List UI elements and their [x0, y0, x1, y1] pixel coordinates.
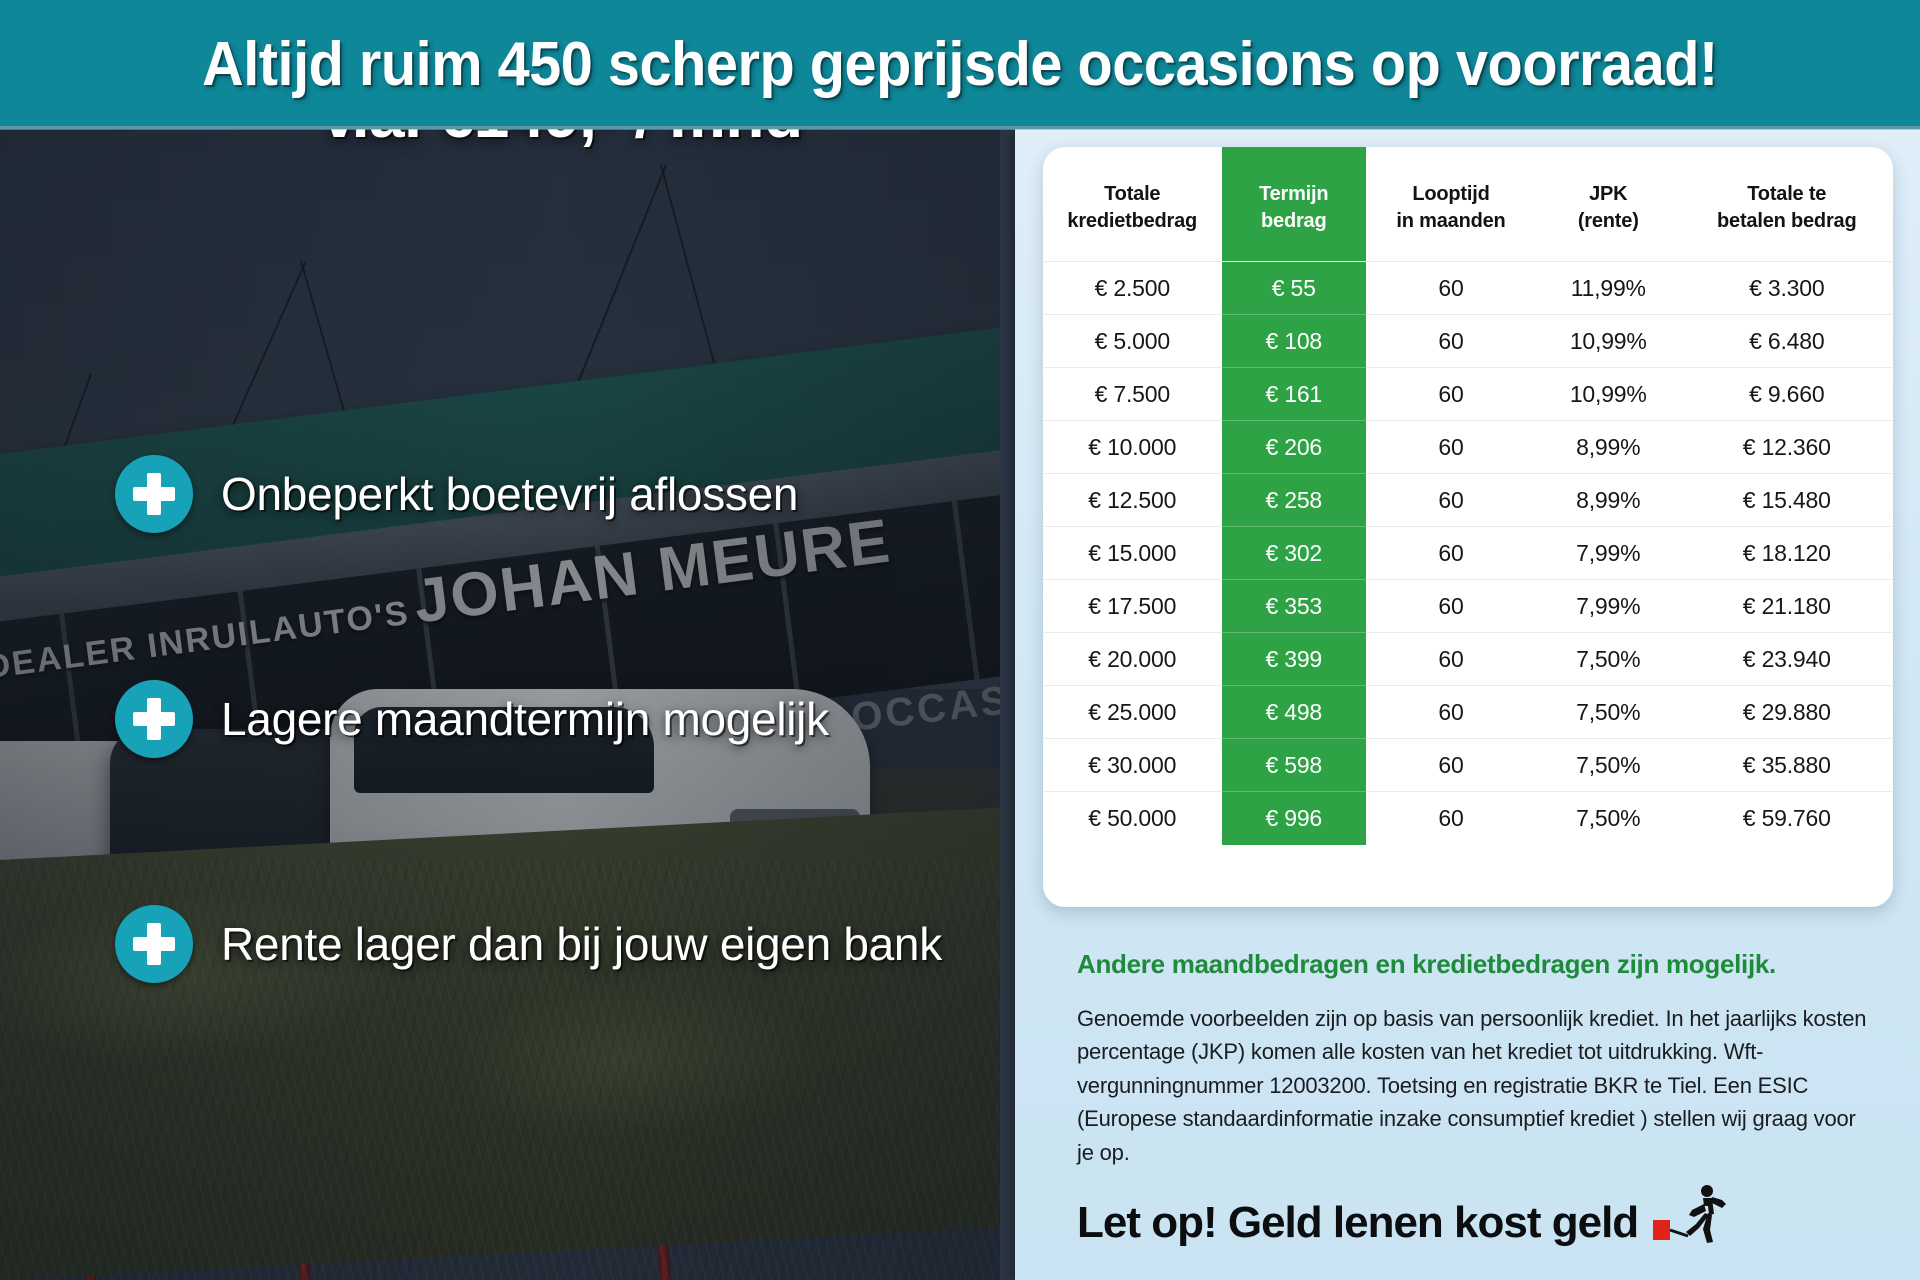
- credit-warning-row: Let op! Geld lenen kost geld: [1077, 1184, 1897, 1248]
- cell-krediet: € 20.000: [1043, 633, 1222, 686]
- cell-jpk: 10,99%: [1536, 315, 1681, 368]
- cell-krediet: € 30.000: [1043, 739, 1222, 792]
- cell-jpk: 8,99%: [1536, 474, 1681, 527]
- column-header-jpk: JPK (rente): [1536, 147, 1681, 262]
- disclaimer-block: Andere maandbedragen en kredietbedragen …: [1077, 949, 1867, 1169]
- benefit-item: Lagere maandtermijn mogelijk: [115, 680, 1015, 758]
- cell-totaal: € 35.880: [1681, 739, 1894, 792]
- finance-table: Totale kredietbedrag Termijn bedrag Loop…: [1043, 147, 1893, 845]
- cell-totaal: € 6.480: [1681, 315, 1894, 368]
- cell-termijn: € 161: [1222, 368, 1367, 421]
- cell-totaal: € 15.480: [1681, 474, 1894, 527]
- cell-termijn: € 996: [1222, 792, 1367, 845]
- cell-krediet: € 7.500: [1043, 368, 1222, 421]
- cell-termijn: € 498: [1222, 686, 1367, 739]
- column-header-termijn: Termijn bedrag: [1222, 147, 1367, 262]
- cell-totaal: € 12.360: [1681, 421, 1894, 474]
- benefit-label: Lagere maandtermijn mogelijk: [221, 692, 829, 746]
- cell-looptijd: 60: [1366, 686, 1536, 739]
- cell-krediet: € 5.000: [1043, 315, 1222, 368]
- cell-looptijd: 60: [1366, 739, 1536, 792]
- topbar-divider: [0, 126, 1920, 130]
- benefit-label: Onbeperkt boetevrij aflossen: [221, 467, 798, 521]
- cell-totaal: € 18.120: [1681, 527, 1894, 580]
- benefit-item: Rente lager dan bij jouw eigen bank: [115, 905, 1015, 983]
- cell-krediet: € 25.000: [1043, 686, 1222, 739]
- cell-termijn: € 206: [1222, 421, 1367, 474]
- cell-looptijd: 60: [1366, 421, 1536, 474]
- cell-krediet: € 15.000: [1043, 527, 1222, 580]
- cell-jpk: 11,99%: [1536, 262, 1681, 315]
- top-headline-bar: Altijd ruim 450 scherp geprijsde occasio…: [0, 0, 1920, 129]
- cell-looptijd: 60: [1366, 315, 1536, 368]
- afm-walking-man-icon: [1652, 1184, 1730, 1248]
- table-row: € 7.500€ 1616010,99%€ 9.660: [1043, 368, 1893, 421]
- cell-totaal: € 23.940: [1681, 633, 1894, 686]
- table-row: € 17.500€ 353607,99%€ 21.180: [1043, 580, 1893, 633]
- plus-icon: [115, 680, 193, 758]
- cell-jpk: 10,99%: [1536, 368, 1681, 421]
- table-row: € 15.000€ 302607,99%€ 18.120: [1043, 527, 1893, 580]
- cell-termijn: € 353: [1222, 580, 1367, 633]
- table-row: € 10.000€ 206608,99%€ 12.360: [1043, 421, 1893, 474]
- finance-table-head: Totale kredietbedrag Termijn bedrag Loop…: [1043, 147, 1893, 262]
- cell-looptijd: 60: [1366, 792, 1536, 845]
- column-header-looptijd: Looptijd in maanden: [1366, 147, 1536, 262]
- finance-table-card: Totale kredietbedrag Termijn bedrag Loop…: [1043, 147, 1893, 907]
- cell-jpk: 7,50%: [1536, 686, 1681, 739]
- table-row: € 20.000€ 399607,50%€ 23.940: [1043, 633, 1893, 686]
- table-row: € 12.500€ 258608,99%€ 15.480: [1043, 474, 1893, 527]
- benefit-label: Rente lager dan bij jouw eigen bank: [221, 917, 942, 971]
- column-header-totaal: Totale te betalen bedrag: [1681, 147, 1894, 262]
- column-header-krediet: Totale kredietbedrag: [1043, 147, 1222, 262]
- cell-totaal: € 21.180: [1681, 580, 1894, 633]
- benefit-item: Onbeperkt boetevrij aflossen: [115, 455, 1015, 533]
- top-headline-text: Altijd ruim 450 scherp geprijsde occasio…: [202, 29, 1718, 100]
- table-row: € 2.500€ 556011,99%€ 3.300: [1043, 262, 1893, 315]
- cell-termijn: € 55: [1222, 262, 1367, 315]
- cell-termijn: € 302: [1222, 527, 1367, 580]
- cell-looptijd: 60: [1366, 368, 1536, 421]
- cell-jpk: 7,99%: [1536, 580, 1681, 633]
- cell-krediet: € 17.500: [1043, 580, 1222, 633]
- promo-content-column: Financieren mogelijk v.a. €149,- / mnd O…: [0, 0, 1020, 1151]
- table-row: € 30.000€ 598607,50%€ 35.880: [1043, 739, 1893, 792]
- credit-warning-text: Let op! Geld lenen kost geld: [1077, 1198, 1638, 1248]
- cell-krediet: € 50.000: [1043, 792, 1222, 845]
- cell-looptijd: 60: [1366, 633, 1536, 686]
- cell-jpk: 7,50%: [1536, 792, 1681, 845]
- cell-termijn: € 258: [1222, 474, 1367, 527]
- cell-looptijd: 60: [1366, 474, 1536, 527]
- cell-jpk: 7,50%: [1536, 739, 1681, 792]
- table-row: € 5.000€ 1086010,99%€ 6.480: [1043, 315, 1893, 368]
- cell-krediet: € 10.000: [1043, 421, 1222, 474]
- plus-icon: [115, 455, 193, 533]
- finance-table-body: € 2.500€ 556011,99%€ 3.300€ 5.000€ 10860…: [1043, 262, 1893, 845]
- cell-totaal: € 9.660: [1681, 368, 1894, 421]
- cell-totaal: € 29.880: [1681, 686, 1894, 739]
- cell-jpk: 8,99%: [1536, 421, 1681, 474]
- disclaimer-title: Andere maandbedragen en kredietbedragen …: [1077, 949, 1867, 980]
- cell-jpk: 7,50%: [1536, 633, 1681, 686]
- cell-totaal: € 3.300: [1681, 262, 1894, 315]
- cell-jpk: 7,99%: [1536, 527, 1681, 580]
- cell-krediet: € 12.500: [1043, 474, 1222, 527]
- table-header-row: Totale kredietbedrag Termijn bedrag Loop…: [1043, 147, 1893, 262]
- cell-looptijd: 60: [1366, 580, 1536, 633]
- cell-looptijd: 60: [1366, 262, 1536, 315]
- cell-totaal: € 59.760: [1681, 792, 1894, 845]
- finance-info-panel: Totale kredietbedrag Termijn bedrag Loop…: [1015, 129, 1920, 1280]
- cell-termijn: € 108: [1222, 315, 1367, 368]
- cell-looptijd: 60: [1366, 527, 1536, 580]
- disclaimer-body: Genoemde voorbeelden zijn op basis van p…: [1077, 1002, 1867, 1169]
- table-row: € 25.000€ 498607,50%€ 29.880: [1043, 686, 1893, 739]
- finance-promo-banner: Altijd ruim 450 scherp geprijsde occasio…: [0, 0, 1920, 1280]
- table-row: € 50.000€ 996607,50%€ 59.760: [1043, 792, 1893, 845]
- cell-termijn: € 598: [1222, 739, 1367, 792]
- cell-termijn: € 399: [1222, 633, 1367, 686]
- plus-icon: [115, 905, 193, 983]
- cell-krediet: € 2.500: [1043, 262, 1222, 315]
